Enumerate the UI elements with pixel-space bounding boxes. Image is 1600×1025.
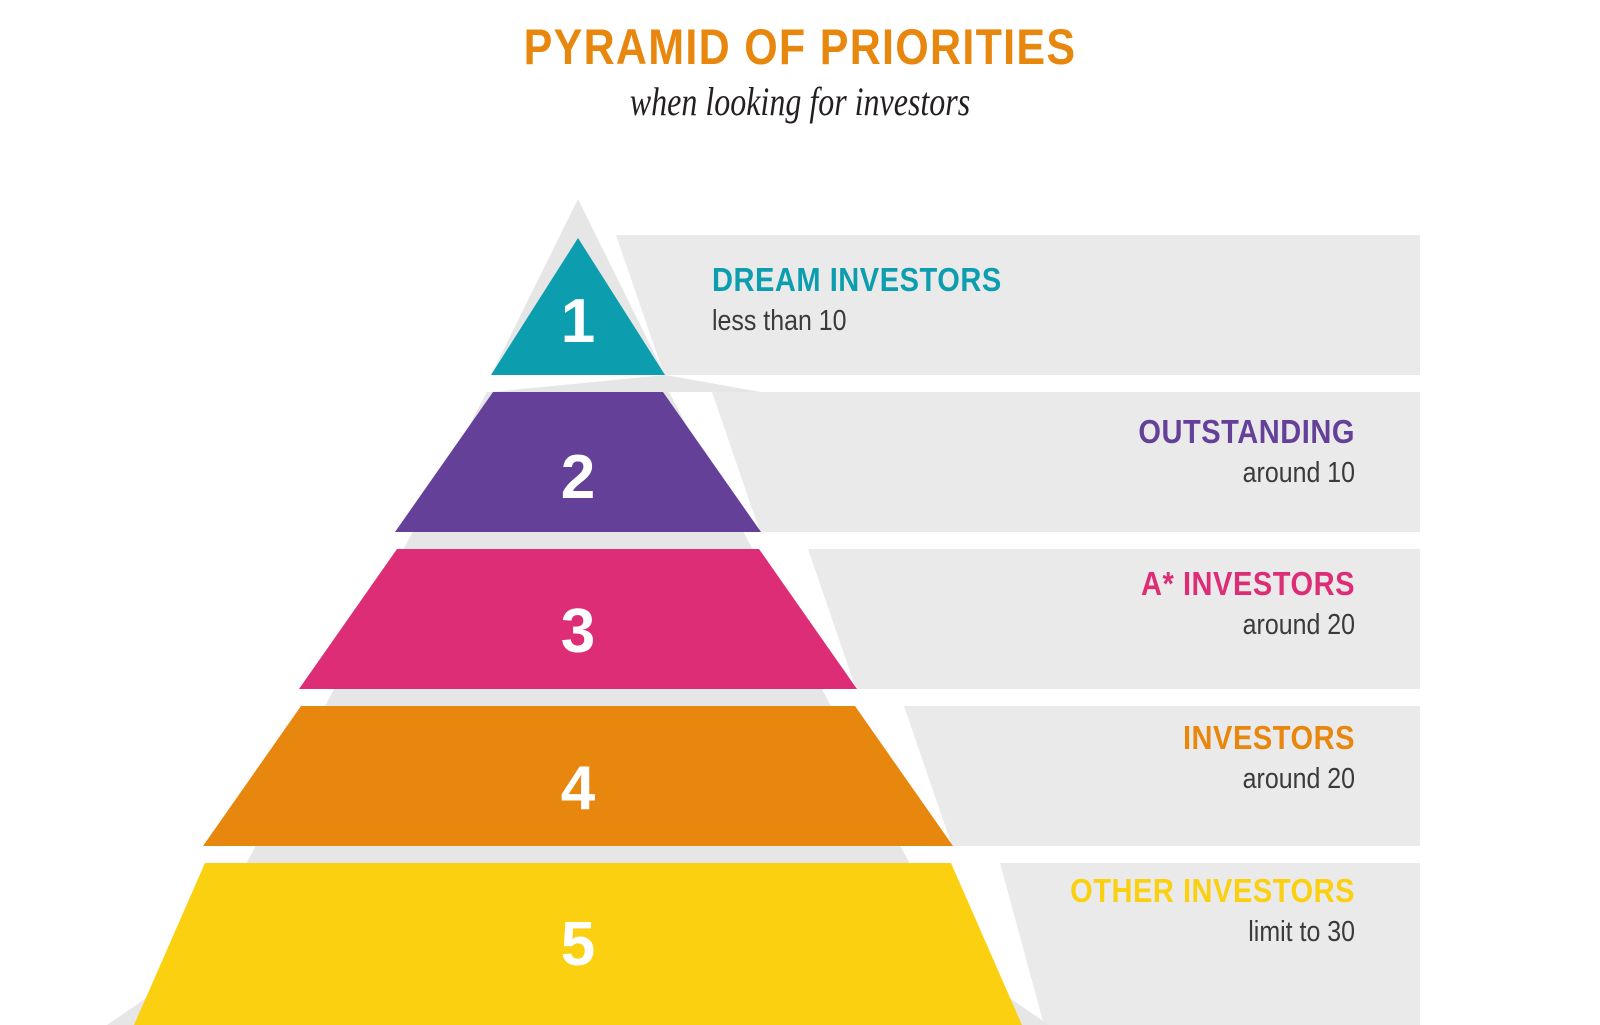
tier-sub-5: limit to 30 bbox=[805, 915, 1355, 950]
tier-label-4: INVESTORS around 20 bbox=[715, 720, 1355, 796]
tier-heading-1: DREAM INVESTORS bbox=[712, 262, 1275, 298]
tier-heading-2: OUTSTANDING bbox=[792, 414, 1355, 450]
tier-sub-2: around 10 bbox=[805, 456, 1355, 491]
tier-sub-4: around 20 bbox=[805, 762, 1355, 797]
tier-label-3: A* INVESTORS around 20 bbox=[715, 566, 1355, 642]
tier-heading-4: INVESTORS bbox=[792, 720, 1355, 756]
tier-sub-1: less than 10 bbox=[712, 304, 1262, 339]
infographic-canvas: PYRAMID OF PRIORITIES when looking for i… bbox=[0, 0, 1600, 1025]
tier-label-2: OUTSTANDING around 10 bbox=[715, 414, 1355, 490]
labels-layer: DREAM INVESTORS less than 10 OUTSTANDING… bbox=[0, 0, 1600, 1025]
tier-heading-3: A* INVESTORS bbox=[792, 566, 1355, 602]
tier-label-5: OTHER INVESTORS limit to 30 bbox=[715, 873, 1355, 949]
tier-sub-3: around 20 bbox=[805, 608, 1355, 643]
tier-heading-5: OTHER INVESTORS bbox=[792, 873, 1355, 909]
tier-label-1: DREAM INVESTORS less than 10 bbox=[712, 262, 1352, 338]
